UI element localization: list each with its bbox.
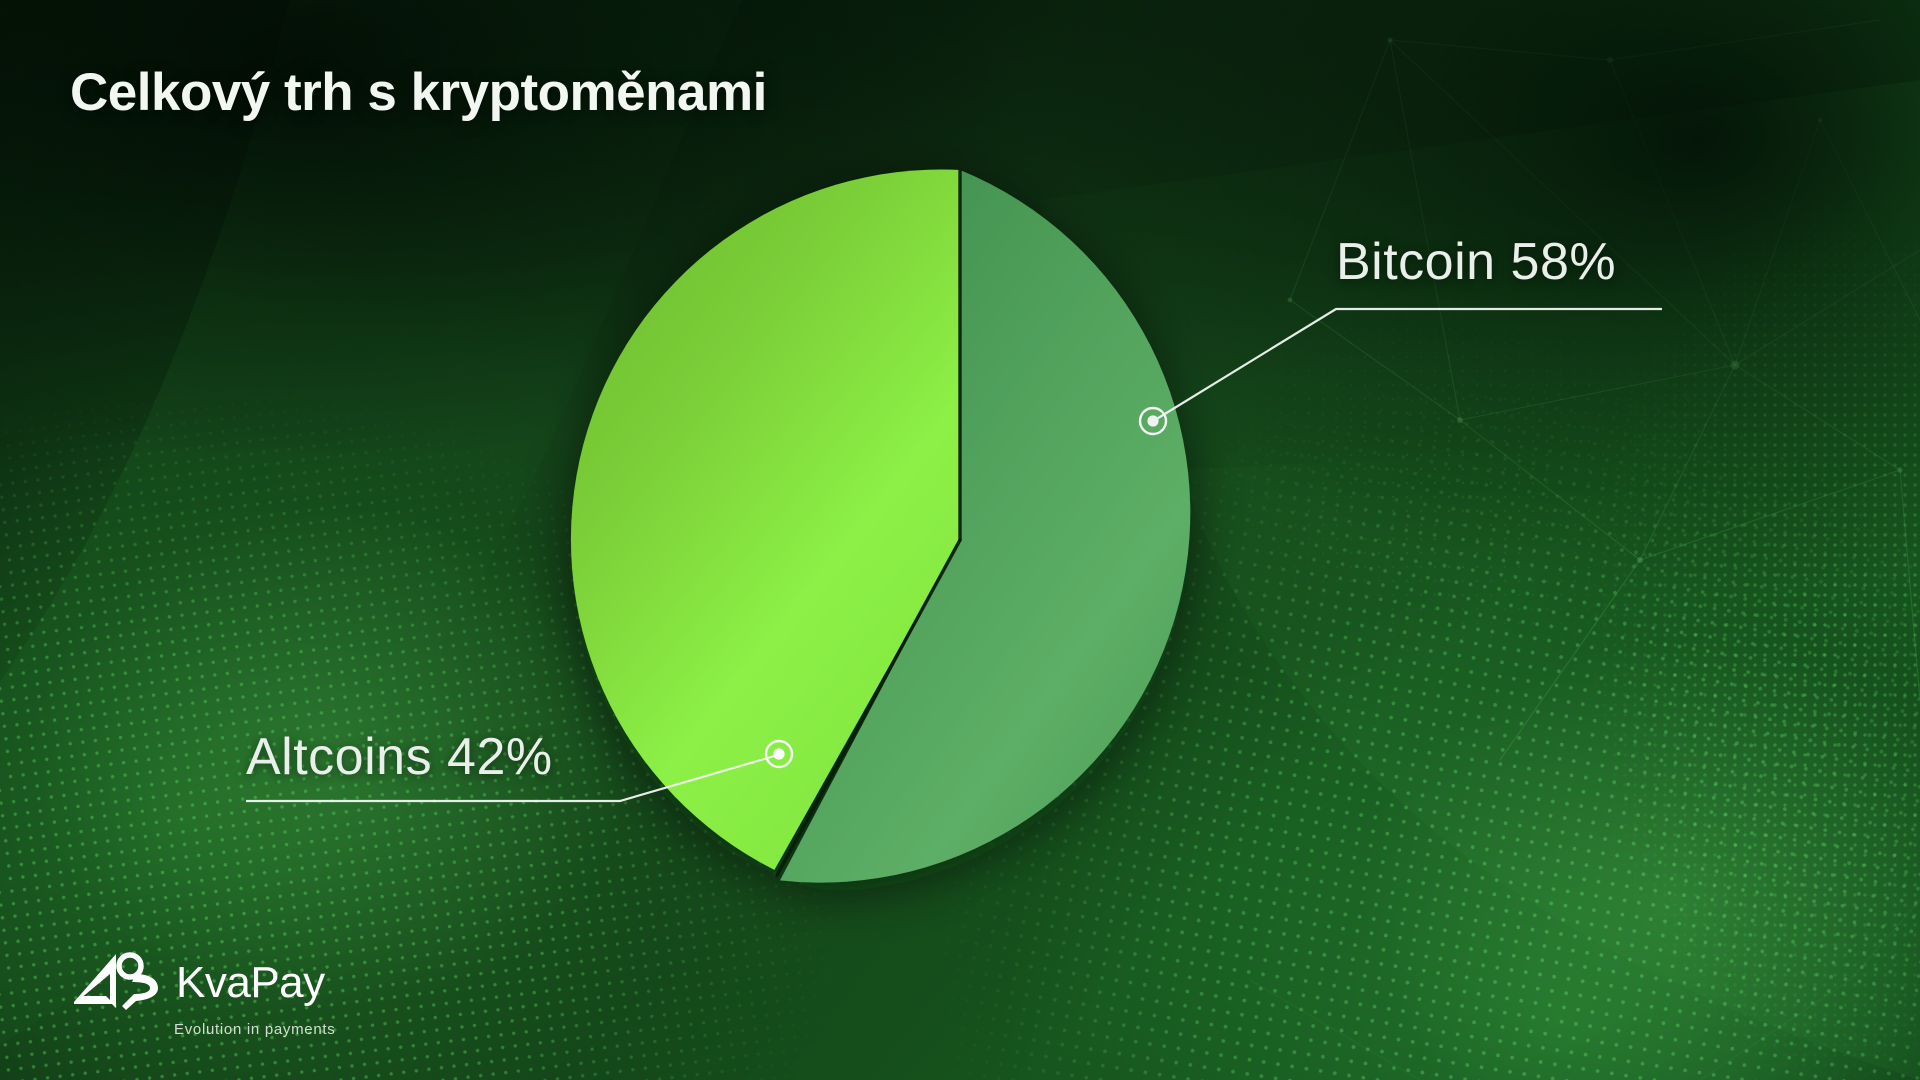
brand-logo[interactable]: KvaPay Evolution in payments [70, 952, 335, 1038]
callout-leader-bitcoin [1155, 309, 1662, 420]
callout-label-altcoins: Altcoins 42% [246, 727, 553, 787]
pie-slices [571, 170, 1190, 883]
callout-altcoins-text: Altcoins 42% [246, 727, 553, 787]
callout-bitcoin-text: Bitcoin 58% [1336, 232, 1616, 292]
brand-tagline: Evolution in payments [174, 1021, 335, 1038]
pie-chart [0, 0, 1920, 1080]
callout-label-bitcoin: Bitcoin 58% [1336, 232, 1616, 292]
infographic-canvas: Celkový trh s kryptoměnami [0, 0, 1920, 1080]
kvapay-arrow-mark-icon [70, 952, 162, 1014]
brand-name: KvaPay [176, 961, 325, 1005]
